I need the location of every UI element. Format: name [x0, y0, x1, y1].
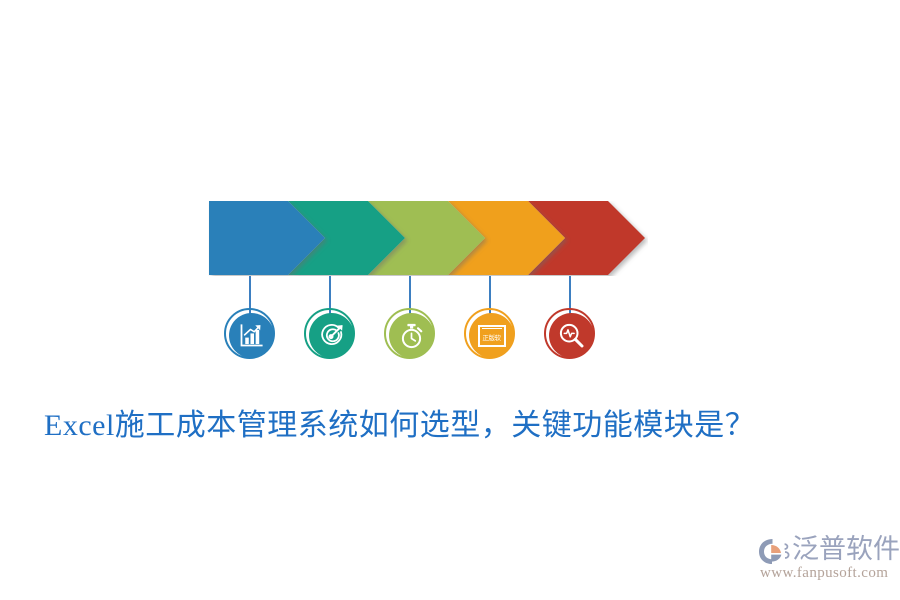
licensed-software-plate-icon: 正版软件 — [478, 325, 506, 347]
fanpu-swoosh-logo-icon — [758, 537, 792, 567]
process-step-5[interactable] — [544, 308, 599, 363]
bar-chart-growth-icon — [239, 323, 264, 348]
brand-watermark: 泛普软件 www.fanpusoft.com — [758, 533, 890, 585]
step-disc-5 — [549, 313, 594, 358]
stopwatch-icon — [399, 323, 424, 349]
process-step-2[interactable] — [304, 308, 359, 363]
plate-label: 正版软件 — [481, 334, 502, 343]
step-disc-1 — [229, 313, 274, 358]
process-step-1[interactable] — [224, 308, 279, 363]
process-chevron-band — [208, 201, 648, 276]
step-disc-4: 正版软件 — [469, 313, 514, 358]
process-step-4[interactable]: 正版软件 — [464, 308, 519, 363]
slide-canvas: 正版软件 Excel施工成本管理系统如何选型，关键功能模块是？ — [0, 0, 900, 600]
process-step-3[interactable] — [384, 308, 439, 363]
brand-name: 泛普软件 — [792, 533, 900, 565]
step-disc-3 — [389, 313, 434, 358]
step-disc-2 — [309, 313, 354, 358]
target-bullseye-icon — [319, 323, 345, 349]
page-title: Excel施工成本管理系统如何选型，关键功能模块是？ — [44, 404, 856, 448]
brand-url: www.fanpusoft.com — [760, 564, 888, 582]
magnifier-pulse-icon — [559, 323, 584, 348]
